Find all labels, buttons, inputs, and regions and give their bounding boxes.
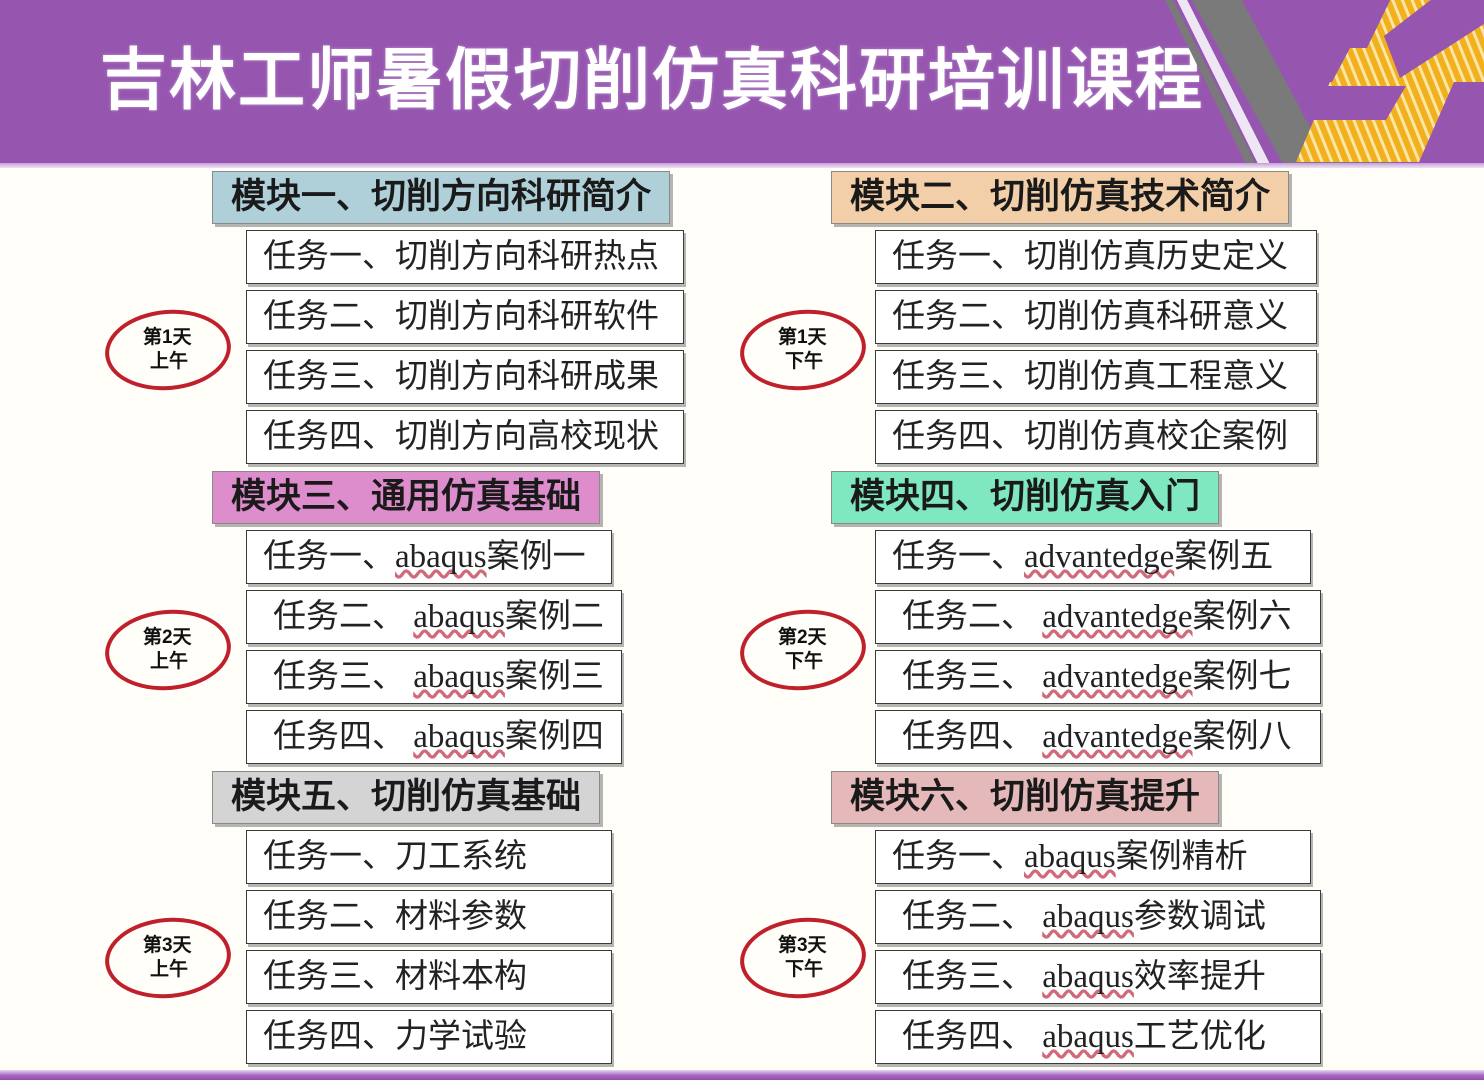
task-item[interactable]: 任务二、 abaqus参数调试 [875, 890, 1321, 944]
day-marker-half: 下午 [785, 650, 823, 674]
page-title: 吉林工师暑假切削仿真科研培训课程 [100, 48, 1204, 115]
module-5-task-list: 任务一、刀工系统 任务二、材料参数 任务三、材料本构 任务四、力学试验 [246, 830, 740, 1064]
day-marker-half: 上午 [150, 958, 188, 982]
task-suffix: 案例精析 [1116, 839, 1248, 875]
task-term: abaqus [395, 539, 487, 575]
task-item[interactable]: 任务二、材料参数 [246, 890, 612, 944]
footer-bar [0, 1070, 1484, 1080]
task-item[interactable]: 任务四、切削方向高校现状 [246, 410, 684, 464]
task-term: abaqus [1024, 839, 1116, 875]
task-suffix: 案例六 [1193, 599, 1292, 635]
day-marker-day: 第1天 [778, 326, 827, 350]
task-prefix: 任务二、 [902, 599, 1042, 635]
task-suffix: 案例五 [1174, 539, 1273, 575]
task-suffix: 效率提升 [1134, 959, 1266, 995]
task-suffix: 案例七 [1193, 659, 1292, 695]
task-item[interactable]: 任务三、 advantedge案例七 [875, 650, 1321, 704]
task-suffix: 案例一 [487, 539, 586, 575]
task-prefix: 任务三、 [902, 659, 1042, 695]
module-1-task-list: 任务一、切削方向科研热点 任务二、切削方向科研软件 任务三、切削方向科研成果 任… [246, 230, 740, 464]
day-marker-day: 第2天 [778, 626, 827, 650]
task-item[interactable]: 任务二、切削方向科研软件 [246, 290, 684, 344]
module-3-header[interactable]: 模块三、通用仿真基础 [212, 471, 600, 524]
task-item[interactable]: 任务一、abaqus案例精析 [875, 830, 1311, 884]
task-prefix: 任务三、 [902, 959, 1042, 995]
day-marker-half: 下午 [785, 350, 823, 374]
task-item[interactable]: 任务四、 abaqus案例四 [246, 710, 622, 764]
task-prefix: 任务二、 [273, 599, 413, 635]
day-marker-half: 上午 [150, 650, 188, 674]
task-term: advantedge [1042, 659, 1192, 695]
task-term: abaqus [413, 599, 505, 635]
day-marker-day: 第1天 [143, 326, 192, 350]
task-prefix: 任务三、 [273, 659, 413, 695]
module-3-task-list: 任务一、abaqus案例一 任务二、 abaqus案例二 任务三、 abaqus… [246, 530, 740, 764]
task-prefix: 任务四、 [902, 719, 1042, 755]
task-term: advantedge [1042, 719, 1192, 755]
task-term: abaqus [1042, 899, 1134, 935]
task-item[interactable]: 任务四、切削仿真校企案例 [875, 410, 1317, 464]
task-item[interactable]: 任务四、 abaqus工艺优化 [875, 1010, 1321, 1064]
vh-logo-icon [1154, 0, 1484, 163]
task-term: advantedge [1024, 539, 1174, 575]
task-item[interactable]: 任务四、力学试验 [246, 1010, 612, 1064]
module-4-header[interactable]: 模块四、切削仿真入门 [831, 471, 1219, 524]
day-marker-half: 下午 [785, 958, 823, 982]
task-prefix: 任务四、 [902, 1019, 1042, 1055]
task-term: advantedge [1042, 599, 1192, 635]
task-prefix: 任务一、 [892, 839, 1024, 875]
task-prefix: 任务四、 [273, 719, 413, 755]
task-item[interactable]: 任务二、 abaqus案例二 [246, 590, 622, 644]
task-item[interactable]: 任务三、切削方向科研成果 [246, 350, 684, 404]
module-2-header[interactable]: 模块二、切削仿真技术简介 [831, 171, 1289, 224]
task-suffix: 案例八 [1193, 719, 1292, 755]
task-suffix: 案例四 [505, 719, 604, 755]
task-item[interactable]: 任务一、刀工系统 [246, 830, 612, 884]
module-1-header[interactable]: 模块一、切削方向科研简介 [212, 171, 670, 224]
task-prefix: 任务二、 [902, 899, 1042, 935]
module-4-task-list: 任务一、advantedge案例五 任务二、 advantedge案例六 任务三… [875, 530, 1375, 764]
module-6-task-list: 任务一、abaqus案例精析 任务二、 abaqus参数调试 任务三、 abaq… [875, 830, 1375, 1064]
task-prefix: 任务一、 [263, 539, 395, 575]
day-marker-day: 第2天 [143, 626, 192, 650]
task-item[interactable]: 任务一、advantedge案例五 [875, 530, 1311, 584]
task-suffix: 案例二 [505, 599, 604, 635]
task-suffix: 工艺优化 [1134, 1019, 1266, 1055]
day-marker-day: 第3天 [143, 934, 192, 958]
title-banner: 吉林工师暑假切削仿真科研培训课程 [0, 0, 1484, 163]
task-item[interactable]: 任务三、材料本构 [246, 950, 612, 1004]
day-marker-half: 上午 [150, 350, 188, 374]
day-marker-day: 第3天 [778, 934, 827, 958]
task-term: abaqus [413, 719, 505, 755]
task-term: abaqus [1042, 1019, 1134, 1055]
task-item[interactable]: 任务一、切削仿真历史定义 [875, 230, 1317, 284]
task-item[interactable]: 任务二、切削仿真科研意义 [875, 290, 1317, 344]
module-2-task-list: 任务一、切削仿真历史定义 任务二、切削仿真科研意义 任务三、切削仿真工程意义 任… [875, 230, 1375, 464]
task-item[interactable]: 任务一、切削方向科研热点 [246, 230, 684, 284]
task-item[interactable]: 任务二、 advantedge案例六 [875, 590, 1321, 644]
task-term: abaqus [1042, 959, 1134, 995]
task-suffix: 案例三 [505, 659, 604, 695]
task-item[interactable]: 任务三、切削仿真工程意义 [875, 350, 1317, 404]
task-term: abaqus [413, 659, 505, 695]
task-item[interactable]: 任务一、abaqus案例一 [246, 530, 612, 584]
task-item[interactable]: 任务三、 abaqus效率提升 [875, 950, 1321, 1004]
module-6-header[interactable]: 模块六、切削仿真提升 [831, 771, 1219, 824]
task-item[interactable]: 任务四、 advantedge案例八 [875, 710, 1321, 764]
task-prefix: 任务一、 [892, 539, 1024, 575]
task-item[interactable]: 任务三、 abaqus案例三 [246, 650, 622, 704]
course-outline-board: 模块一、切削方向科研简介 任务一、切削方向科研热点 任务二、切削方向科研软件 任… [0, 163, 1484, 1070]
module-5-header[interactable]: 模块五、切削仿真基础 [212, 771, 600, 824]
task-suffix: 参数调试 [1134, 899, 1266, 935]
